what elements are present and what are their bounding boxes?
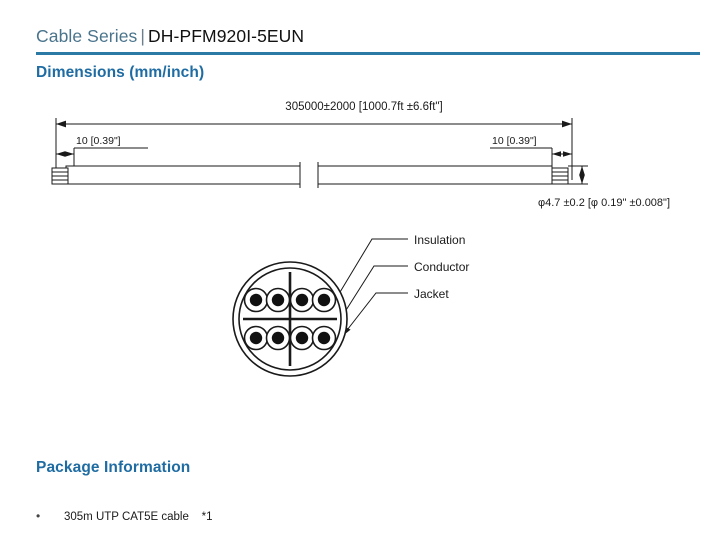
- title-series-label: Cable Series: [36, 26, 137, 46]
- section-heading-package: Package Information: [36, 459, 190, 477]
- title-model-label: DH-PFM920I-5EUN: [148, 26, 304, 46]
- conductor-pair-3: [291, 289, 314, 312]
- cable-body-left: [66, 166, 300, 184]
- callout-label-insulation: Insulation: [414, 233, 465, 247]
- section-heading-dimensions: Dimensions (mm/inch): [36, 64, 204, 82]
- leader-line-jacket: [344, 293, 408, 334]
- diameter-label: φ4.7 ±0.2 [φ 0.19" ±0.008"]: [538, 197, 670, 209]
- cable-end-left-strip: [52, 168, 68, 184]
- conductor-pair-7: [291, 327, 314, 350]
- list-item: • 305m UTP CAT5E cable *1: [36, 508, 536, 525]
- cable-dimension-drawing: 305000±2000 [1000.7ft ±6.6ft"] 10 [0.39"…: [0, 96, 723, 218]
- package-item-text: 305m UTP CAT5E cable *1: [64, 509, 213, 525]
- conductor-pair-6: [267, 327, 290, 350]
- bullet-icon: •: [36, 508, 64, 525]
- right-strip-label: 10 [0.39"]: [492, 135, 537, 147]
- document-header: Cable Series|DH-PFM920I-5EUN: [36, 26, 702, 48]
- conductor-pair-8: [313, 327, 336, 350]
- arrowhead-diameter-top: [579, 166, 585, 175]
- callout-label-jacket: Jacket: [414, 287, 449, 301]
- cross-section-body: [233, 262, 347, 376]
- title-separator: |: [137, 26, 148, 46]
- arrowhead-right-strip-a: [552, 151, 561, 157]
- conductor-pair-5: [245, 327, 268, 350]
- arrowhead-diameter-bottom: [579, 175, 585, 184]
- header-divider-rule: [36, 52, 700, 55]
- arrowhead-overall-right: [562, 121, 572, 128]
- conductor-pair-4: [313, 289, 336, 312]
- cable-end-right-strip: [552, 168, 568, 184]
- page-title: Cable Series|DH-PFM920I-5EUN: [36, 26, 702, 48]
- arrowhead-overall-left: [56, 121, 66, 128]
- arrowhead-left-strip-a: [56, 151, 65, 157]
- arrowhead-right-strip-b: [563, 151, 572, 157]
- cable-body-right: [318, 166, 552, 184]
- left-strip-label: 10 [0.39"]: [76, 135, 121, 147]
- arrowhead-left-strip-b: [65, 151, 74, 157]
- conductor-pair-1: [245, 289, 268, 312]
- cable-cross-section-drawing: Insulation Conductor Jacket: [0, 222, 723, 412]
- package-information-list: • 305m UTP CAT5E cable *1: [36, 508, 536, 525]
- callout-label-conductor: Conductor: [414, 260, 469, 274]
- overall-length-label: 305000±2000 [1000.7ft ±6.6ft"]: [285, 101, 442, 113]
- conductor-pair-2: [267, 289, 290, 312]
